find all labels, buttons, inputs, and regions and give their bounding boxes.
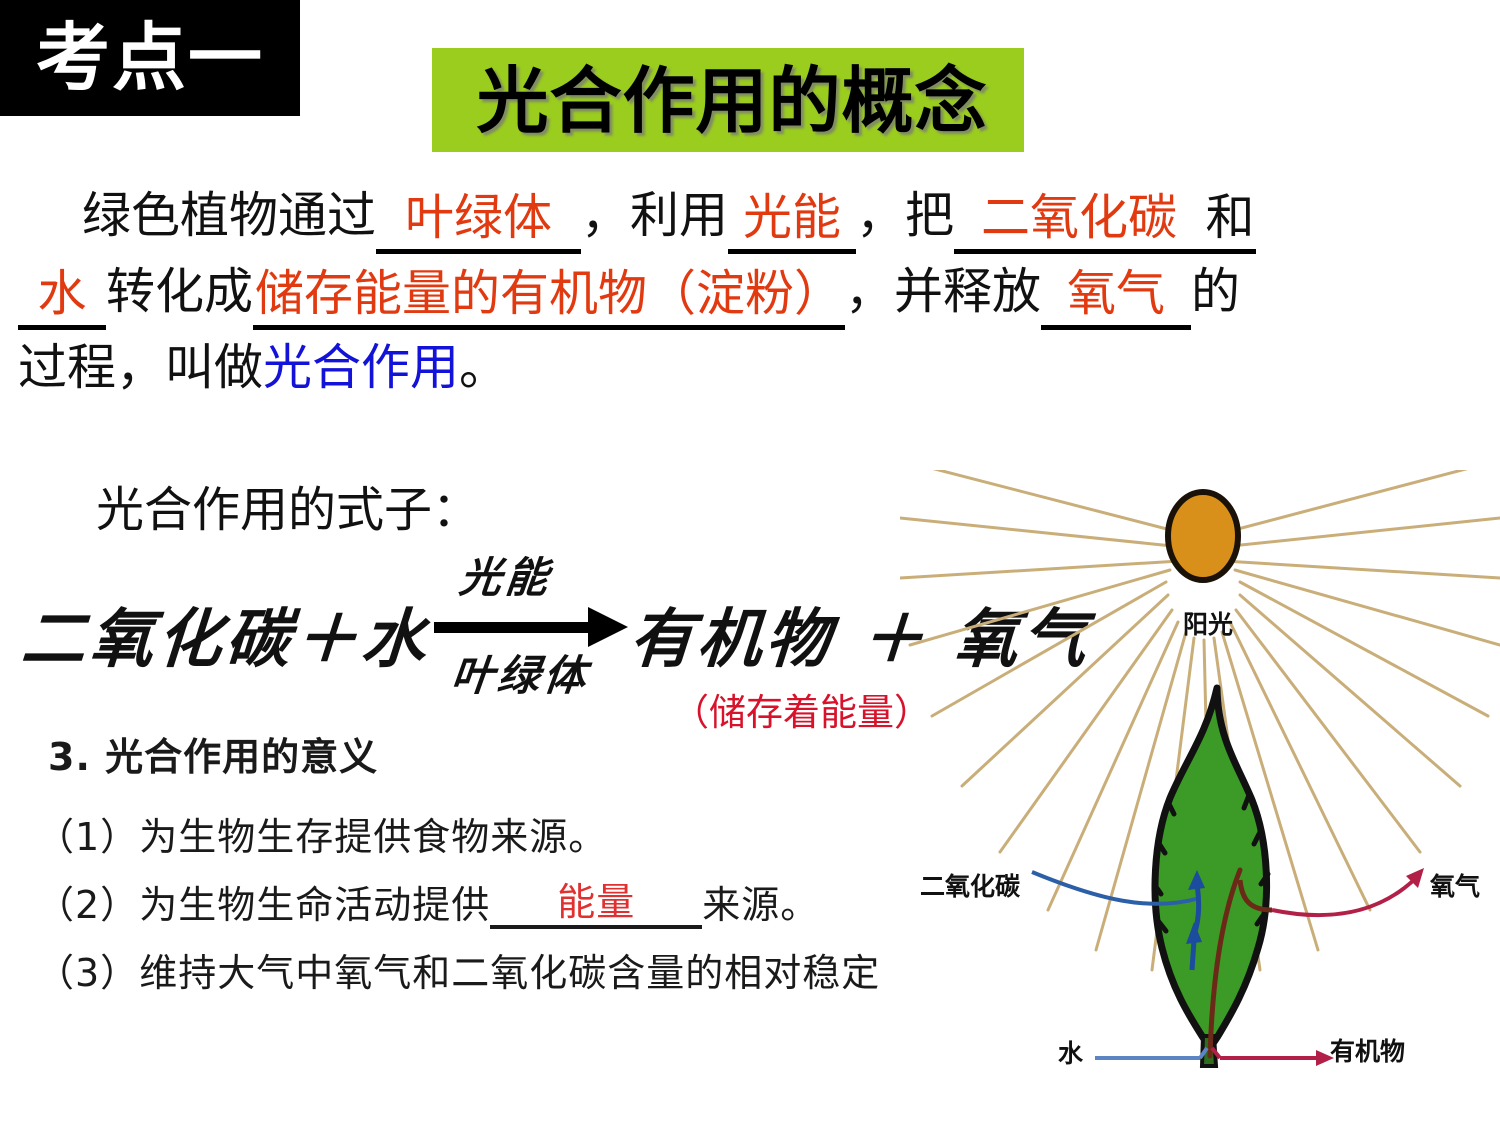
leaf-icon [1155, 688, 1267, 1048]
concept-text-2: ，利用 [581, 187, 728, 244]
diagram-label-sunlight: 阳光 [1183, 605, 1233, 641]
meaning-item-2-pre: 为生物生命活动提供 [139, 883, 490, 927]
diagram-label-co2: 二氧化碳 [920, 867, 1020, 903]
concept-line-3: 过程，叫做光合作用。 [18, 330, 1488, 406]
concept-line-1: 绿色植物通过叶绿体，利用光能，把二氧化碳和 [18, 178, 1488, 254]
equation-reactants: 二氧化碳＋水 [19, 588, 433, 680]
concept-blank-chloroplast: 叶绿体 [376, 187, 581, 254]
photosynthesis-diagram: 阳光 二氧化碳 氧气 水 有机物 [900, 470, 1500, 1110]
concept-text-1: 绿色植物通过 [82, 187, 376, 244]
o2-arrow-curve [1272, 876, 1418, 915]
concept-blank-co2: 二氧化碳 [954, 187, 1204, 254]
concept-blank-oxygen: 氧气 [1041, 263, 1191, 330]
concept-text-3: ，把 [856, 187, 954, 244]
meaning-section-title: 3. 光合作用的意义 [48, 726, 378, 781]
concept-blank-organic: 储存能量的有机物（淀粉） [253, 263, 845, 330]
slide-root: 考点一 光合作用的概念 绿色植物通过叶绿体，利用光能，把二氧化碳和 水转化成储存… [0, 0, 1500, 1125]
diagram-label-organic: 有机物 [1330, 1032, 1405, 1068]
meaning-item-2-blank-energy: 能量 [490, 879, 702, 929]
concept-blank-lightenergy: 光能 [728, 187, 856, 254]
diagram-canvas [900, 470, 1500, 1110]
concept-text-9: 。 [459, 339, 508, 396]
exam-point-label: 考点一 [8, 18, 292, 98]
concept-text-4: 和 [1204, 187, 1256, 254]
meaning-item-2: （2）为生物生命活动提供能量来源。 [36, 874, 819, 929]
concept-text-6: ，并释放 [845, 263, 1041, 320]
concept-text-7: 的 [1191, 263, 1240, 320]
co2-arrow-tail [1192, 940, 1194, 970]
sun-icon [1168, 492, 1238, 580]
meaning-item-1: （1）为生物生存提供食物来源。 [36, 806, 607, 861]
equation-arrow-below-label: 叶绿体 [449, 642, 593, 703]
diagram-label-water: 水 [1058, 1034, 1083, 1070]
concept-line-2: 水转化成储存能量的有机物（淀粉），并释放氧气的 [18, 254, 1488, 330]
meaning-item-3-number: （3） [36, 951, 139, 995]
equation-energy-note: （储存着能量） [672, 682, 931, 736]
meaning-item-3: （3）维持大气中氧气和二氧化碳含量的相对稳定 [36, 942, 880, 997]
diagram-label-oxygen: 氧气 [1430, 867, 1480, 903]
meaning-item-2-post: 来源。 [702, 883, 819, 927]
concept-paragraph: 绿色植物通过叶绿体，利用光能，把二氧化碳和 水转化成储存能量的有机物（淀粉），并… [18, 178, 1488, 406]
concept-text-5: 转化成 [106, 263, 253, 320]
concept-text-8: 过程，叫做 [18, 339, 263, 396]
concept-term-photosynthesis: 光合作用 [263, 339, 459, 396]
equation-arrow-shaft [434, 622, 594, 633]
equation-arrow-head-icon [588, 607, 628, 647]
meaning-item-1-text: 为生物生存提供食物来源。 [139, 815, 607, 859]
page-title: 光合作用的概念 [440, 58, 1024, 144]
concept-blank-water: 水 [18, 263, 106, 330]
meaning-item-3-text: 维持大气中氧气和二氧化碳含量的相对稳定 [139, 951, 880, 995]
meaning-item-1-number: （1） [36, 815, 139, 859]
formula-heading: 光合作用的式子： [96, 470, 480, 540]
meaning-item-2-number: （2） [36, 883, 139, 927]
equation-arrow-above-label: 光能 [457, 544, 555, 605]
